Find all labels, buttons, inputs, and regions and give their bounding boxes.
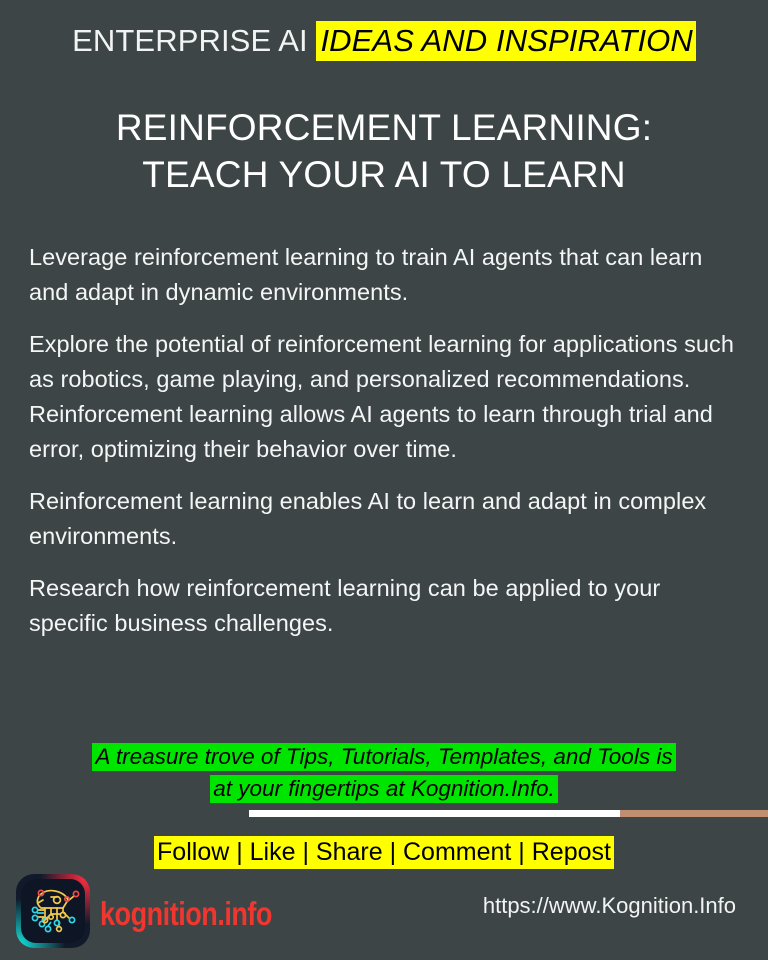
brand-wordmark: kognition.info [100,893,272,930]
kicker-highlight-text: IDEAS AND INSPIRATION [316,21,695,61]
page-title: REINFORCEMENT LEARNING: TEACH YOUR AI TO… [0,104,768,198]
kicker-plain-text: ENTERPRISE AI [72,23,308,58]
promo-line-2-wrap: at your fingertips at Kognition.Info. [0,773,768,805]
body-paragraph: Research how reinforcement learning can … [29,571,745,641]
promo-line-2: at your fingertips at Kognition.Info. [210,775,557,803]
slide-canvas: ENTERPRISE AI IDEAS AND INSPIRATION REIN… [0,0,768,960]
circuit-brain-icon [16,874,90,948]
footer-divider [249,810,768,817]
promo-line-1-wrap: A treasure trove of Tips, Tutorials, Tem… [0,741,768,773]
circuit-brain-icon-inner [21,879,85,943]
body-paragraph: Leverage reinforcement learning to train… [29,240,745,310]
site-url[interactable]: https://www.Kognition.Info [483,892,736,920]
body-copy: Leverage reinforcement learning to train… [29,240,745,641]
social-cta-label[interactable]: Follow | Like | Share | Comment | Repost [154,836,614,869]
kicker-line: ENTERPRISE AI IDEAS AND INSPIRATION [0,21,768,61]
promo-line-1: A treasure trove of Tips, Tutorials, Tem… [92,743,675,771]
divider-segment-tan [620,810,768,817]
page-title-line-2: TEACH YOUR AI TO LEARN [0,151,768,198]
promo-callout: A treasure trove of Tips, Tutorials, Tem… [0,741,768,805]
body-paragraph: Explore the potential of reinforcement l… [29,327,745,467]
social-cta[interactable]: Follow | Like | Share | Comment | Repost [0,836,768,868]
page-title-line-1: REINFORCEMENT LEARNING: [0,104,768,151]
divider-segment-white [249,810,620,817]
body-paragraph: Reinforcement learning enables AI to lea… [29,484,745,554]
brand-logo[interactable]: kognition.info [16,874,310,948]
